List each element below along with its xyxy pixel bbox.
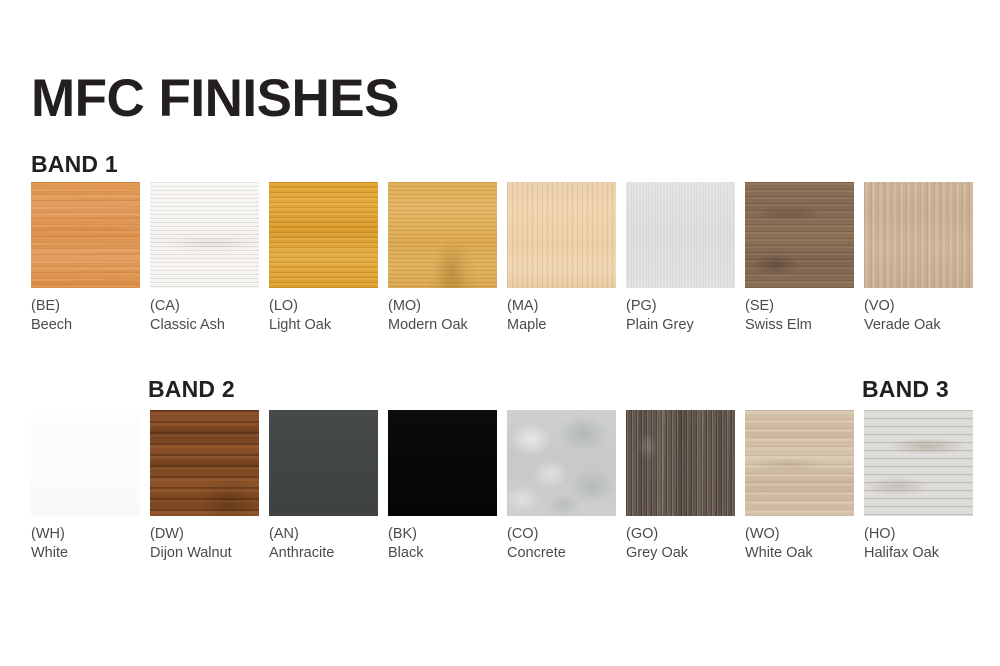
finish-code: (MA): [507, 297, 616, 316]
surface-texture: [269, 410, 378, 516]
finish-code: (BE): [31, 297, 140, 316]
finish-swatch-black[interactable]: [388, 410, 497, 516]
finish-cell-wo[interactable]: (WO) White Oak: [745, 410, 864, 563]
finish-caption-mo: (MO) Modern Oak: [388, 297, 497, 335]
finish-cell-co[interactable]: (CO) Concrete: [507, 410, 626, 563]
finish-name: Maple: [507, 316, 616, 335]
finish-name: White Oak: [745, 544, 854, 563]
finish-cell-pg[interactable]: (PG) Plain Grey: [626, 182, 745, 335]
finish-caption-an: (AN) Anthracite: [269, 525, 378, 563]
wood-grain-texture: [507, 182, 616, 288]
finish-caption-vo: (VO) Verade Oak: [864, 297, 973, 335]
surface-texture: [388, 410, 497, 516]
finish-code: (CA): [150, 297, 259, 316]
finish-caption-se: (SE) Swiss Elm: [745, 297, 854, 335]
finish-code: (MO): [388, 297, 497, 316]
finish-cell-be[interactable]: (BE) Beech: [31, 182, 150, 335]
finish-cell-dw[interactable]: (DW) Dijon Walnut: [150, 410, 269, 563]
finish-code: (WH): [31, 525, 140, 544]
wood-grain-texture: [150, 410, 259, 516]
wood-grain-texture: [626, 410, 735, 516]
finish-caption-wo: (WO) White Oak: [745, 525, 854, 563]
finish-caption-co: (CO) Concrete: [507, 525, 616, 563]
finish-code: (VO): [864, 297, 973, 316]
finish-cell-vo[interactable]: (VO) Verade Oak: [864, 182, 983, 335]
finish-caption-lo: (LO) Light Oak: [269, 297, 378, 335]
band-heading-1: BAND 1: [31, 151, 118, 177]
surface-texture: [31, 410, 140, 516]
finish-swatch-light-oak[interactable]: [269, 182, 378, 288]
finish-swatch-grey-oak[interactable]: [626, 410, 735, 516]
mfc-finishes-page: MFC FINISHES BAND 1 BAND 2 BAND 3 (BE) B…: [0, 0, 1000, 666]
finish-name: Dijon Walnut: [150, 544, 259, 563]
page-title: MFC FINISHES: [31, 70, 399, 128]
surface-texture: [626, 182, 735, 288]
finish-cell-mo[interactable]: (MO) Modern Oak: [388, 182, 507, 335]
finish-swatch-modern-oak[interactable]: [388, 182, 497, 288]
finish-cell-ho[interactable]: (HO) Halifax Oak: [864, 410, 983, 563]
finish-swatch-concrete[interactable]: [507, 410, 616, 516]
finish-name: Concrete: [507, 544, 616, 563]
finish-name: Halifax Oak: [864, 544, 973, 563]
finish-name: Modern Oak: [388, 316, 497, 335]
wood-grain-texture: [150, 182, 259, 288]
finish-name: Swiss Elm: [745, 316, 854, 335]
band-heading-2: BAND 2: [148, 376, 235, 402]
finish-name: Beech: [31, 316, 140, 335]
finish-row-band-2-3: (WH) White (DW) Dijon Walnut (AN) Anthra…: [31, 410, 969, 563]
finish-caption-ca: (CA) Classic Ash: [150, 297, 259, 335]
wood-grain-texture: [388, 182, 497, 288]
wood-grain-texture: [269, 182, 378, 288]
finish-name: Plain Grey: [626, 316, 735, 335]
finish-code: (LO): [269, 297, 378, 316]
finish-code: (DW): [150, 525, 259, 544]
finish-swatch-anthracite[interactable]: [269, 410, 378, 516]
finish-row-band-1: (BE) Beech (CA) Classic Ash (LO) Light O…: [31, 182, 969, 335]
finish-swatch-plain-grey[interactable]: [626, 182, 735, 288]
finish-code: (WO): [745, 525, 854, 544]
finish-swatch-classic-ash[interactable]: [150, 182, 259, 288]
finish-swatch-verade-oak[interactable]: [864, 182, 973, 288]
finish-swatch-white-oak[interactable]: [745, 410, 854, 516]
finish-swatch-halifax-oak[interactable]: [864, 410, 973, 516]
finish-swatch-white[interactable]: [31, 410, 140, 516]
wood-grain-texture: [864, 410, 973, 516]
finish-name: Grey Oak: [626, 544, 735, 563]
wood-grain-texture: [31, 182, 140, 288]
finish-swatch-beech[interactable]: [31, 182, 140, 288]
finish-name: Anthracite: [269, 544, 378, 563]
wood-grain-texture: [745, 410, 854, 516]
finish-swatch-swiss-elm[interactable]: [745, 182, 854, 288]
finish-name: Black: [388, 544, 497, 563]
finish-caption-wh: (WH) White: [31, 525, 140, 563]
finish-cell-se[interactable]: (SE) Swiss Elm: [745, 182, 864, 335]
finish-code: (HO): [864, 525, 973, 544]
finish-cell-ma[interactable]: (MA) Maple: [507, 182, 626, 335]
finish-cell-go[interactable]: (GO) Grey Oak: [626, 410, 745, 563]
finish-name: Light Oak: [269, 316, 378, 335]
finish-code: (PG): [626, 297, 735, 316]
finish-name: Classic Ash: [150, 316, 259, 335]
finish-code: (GO): [626, 525, 735, 544]
wood-grain-texture: [745, 182, 854, 288]
finish-code: (CO): [507, 525, 616, 544]
finish-code: (SE): [745, 297, 854, 316]
finish-caption-pg: (PG) Plain Grey: [626, 297, 735, 335]
finish-code: (BK): [388, 525, 497, 544]
stone-texture: [507, 410, 616, 516]
finish-caption-bk: (BK) Black: [388, 525, 497, 563]
finish-name: White: [31, 544, 140, 563]
finish-caption-ma: (MA) Maple: [507, 297, 616, 335]
finish-name: Verade Oak: [864, 316, 973, 335]
finish-code: (AN): [269, 525, 378, 544]
finish-caption-go: (GO) Grey Oak: [626, 525, 735, 563]
finish-cell-ca[interactable]: (CA) Classic Ash: [150, 182, 269, 335]
finish-caption-dw: (DW) Dijon Walnut: [150, 525, 259, 563]
finish-caption-be: (BE) Beech: [31, 297, 140, 335]
finish-caption-ho: (HO) Halifax Oak: [864, 525, 973, 563]
band-heading-3: BAND 3: [862, 376, 949, 402]
wood-grain-texture: [864, 182, 973, 288]
finish-cell-wh[interactable]: (WH) White: [31, 410, 150, 563]
finish-cell-bk[interactable]: (BK) Black: [388, 410, 507, 563]
finish-cell-lo[interactable]: (LO) Light Oak: [269, 182, 388, 335]
finish-cell-an[interactable]: (AN) Anthracite: [269, 410, 388, 563]
finish-swatch-maple[interactable]: [507, 182, 616, 288]
finish-swatch-dijon-walnut[interactable]: [150, 410, 259, 516]
